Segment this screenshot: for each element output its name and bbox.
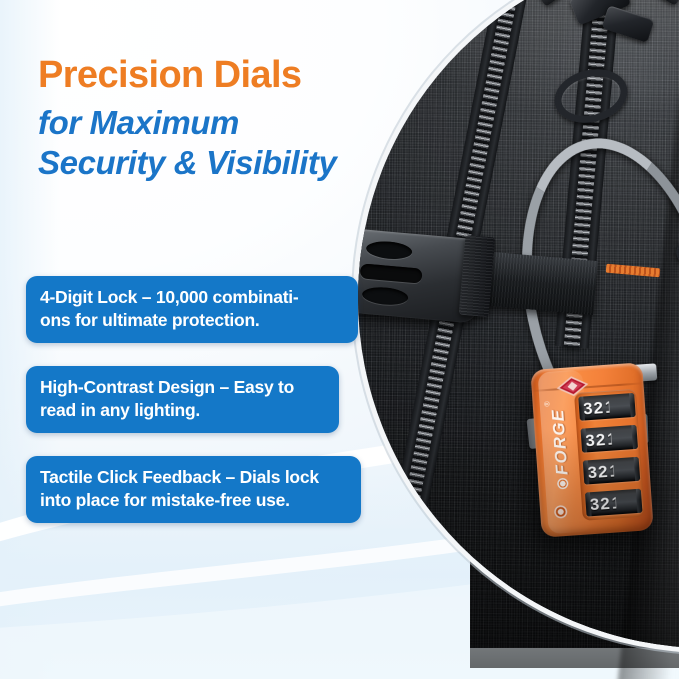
infographic-canvas: FORGE ® 321 321 xyxy=(0,0,679,679)
dial-wheel-1[interactable]: 321 xyxy=(578,393,636,421)
callout-high-contrast-design: High-Contrast Design – Easy to read in a… xyxy=(26,366,339,433)
callout-4-digit-lock: 4-Digit Lock – 10,000 combinati- ons for… xyxy=(26,276,358,343)
callout-tactile-click-feedback: Tactile Click Feedback – Dials lock into… xyxy=(26,456,361,523)
photo-bottom-shading xyxy=(358,428,679,648)
headline-line-3: Security & Visibility xyxy=(38,143,438,183)
headline-line-2: for Maximum xyxy=(38,103,438,143)
callout-1-line-2: ons for ultimate protection. xyxy=(40,309,344,332)
dial-1-partial: 1 xyxy=(604,398,614,416)
callout-2-line-2: read in any lighting. xyxy=(40,399,325,422)
callout-3-line-1: Tactile Click Feedback – Dials lock xyxy=(40,466,347,489)
headline-block: Precision Dials for Maximum Security & V… xyxy=(38,56,438,184)
headline-line-1: Precision Dials xyxy=(38,56,438,94)
dial-1-value: 32 xyxy=(582,399,604,417)
callout-3-line-2: into place for mistake-free use. xyxy=(40,489,347,512)
registered-mark: ® xyxy=(545,401,552,407)
callout-1-line-1: 4-Digit Lock – 10,000 combinati- xyxy=(40,286,344,309)
callout-2-line-1: High-Contrast Design – Easy to xyxy=(40,376,325,399)
